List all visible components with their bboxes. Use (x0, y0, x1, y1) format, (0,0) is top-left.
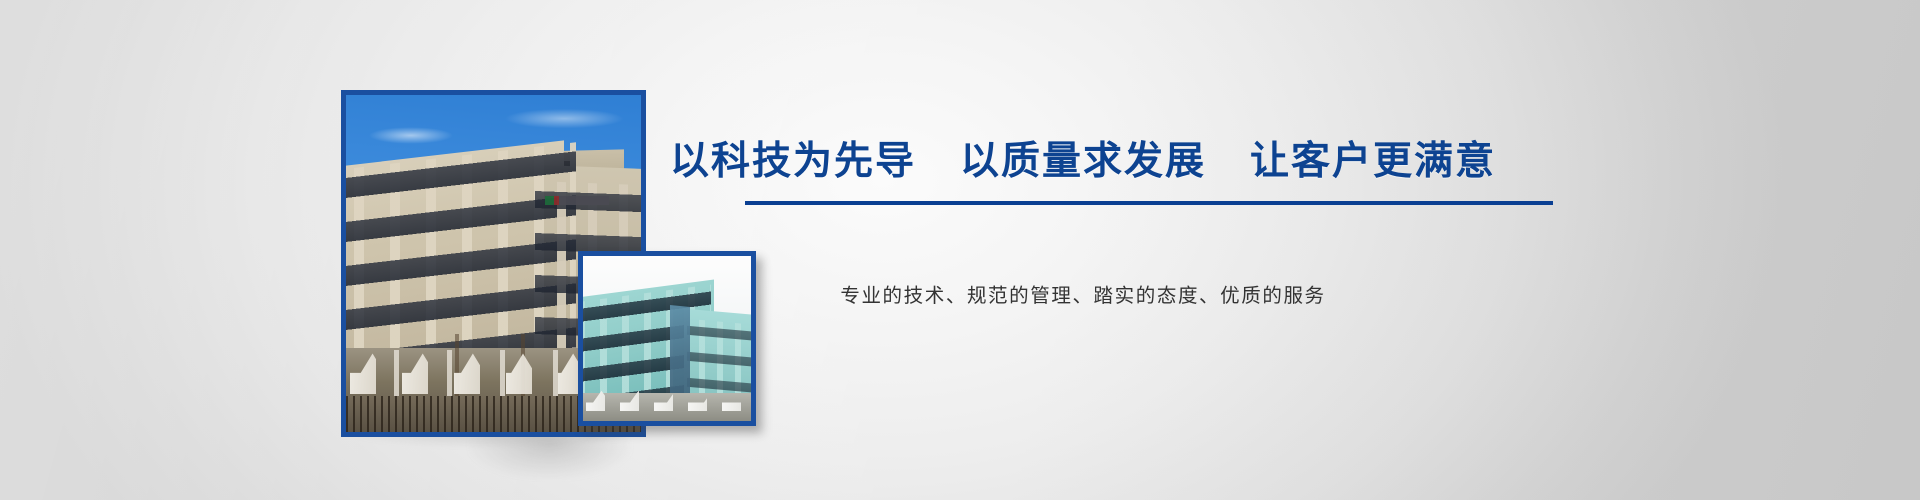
company-banner: 以科技为先导以质量求发展让客户更满意 专业的技术、规范的管理、踏实的态度、优质的… (0, 0, 1920, 500)
banner-subtitle: 专业的技术、规范的管理、踏实的态度、优质的服务 (600, 286, 1566, 306)
banner-headline: 以科技为先导以质量求发展让客户更满意 (600, 142, 1566, 181)
headline-segment-2: 以质量求发展 (960, 142, 1206, 181)
banner-text-block: 以科技为先导以质量求发展让客户更满意 专业的技术、规范的管理、踏实的态度、优质的… (600, 0, 1600, 500)
headline-divider-rule (745, 201, 1553, 205)
headline-segment-1: 以科技为先导 (670, 142, 916, 181)
building-rooftop-sign (545, 196, 609, 205)
headline-segment-3: 让客户更满意 (1250, 142, 1496, 181)
